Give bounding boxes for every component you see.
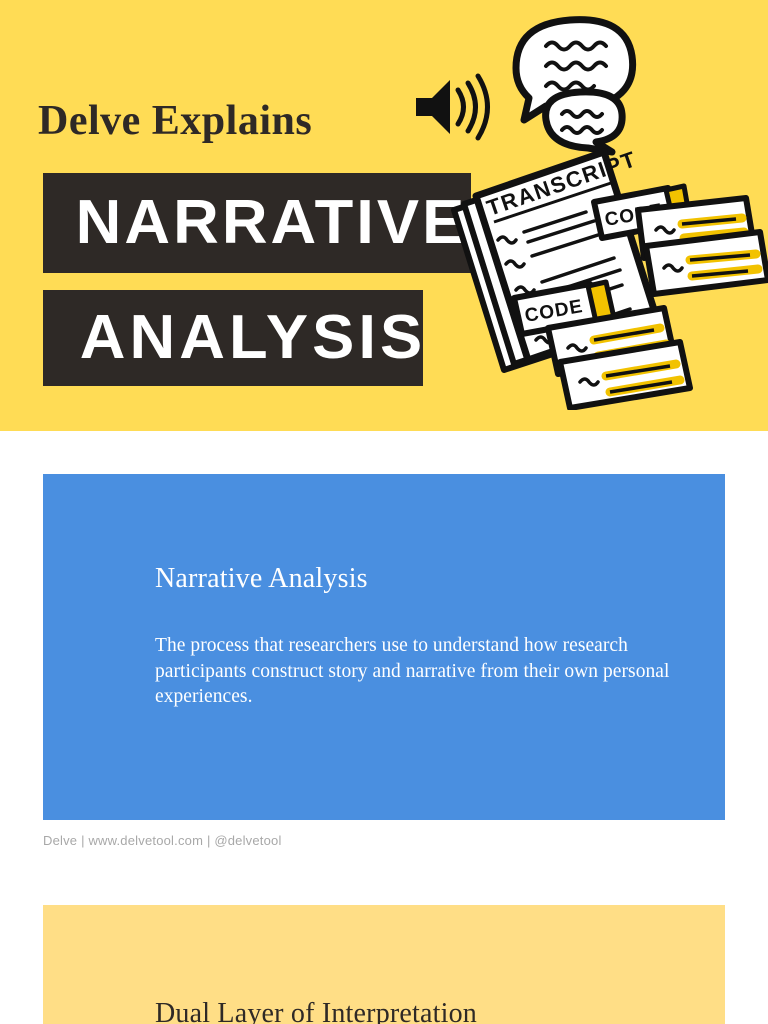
attribution-website[interactable]: www.delvetool.com [88, 833, 203, 848]
poster-page: Delve Explains NARRATIVE ANALYSIS [0, 0, 768, 1024]
attribution-separator-1: | [81, 833, 85, 848]
card-title: Dual Layer of Interpretation [155, 997, 477, 1024]
card-title: Narrative Analysis [155, 562, 368, 596]
hero-eyebrow: Delve Explains [38, 97, 312, 145]
speaker-icon [416, 76, 488, 138]
card-dual-layer-of-interpretation: Dual Layer of Interpretation [43, 905, 725, 1024]
hero-header: Delve Explains NARRATIVE ANALYSIS [0, 0, 768, 431]
card-narrative-analysis: Narrative Analysis The process that rese… [43, 474, 725, 820]
highlighted-strip-2-icon [646, 232, 768, 294]
attribution-line: Delve | www.delvetool.com | @delvetool [43, 832, 282, 850]
speech-bubble-small-icon [546, 92, 623, 152]
hero-title-band-2: ANALYSIS [43, 290, 423, 386]
attribution-handle[interactable]: @delvetool [214, 833, 281, 848]
hero-illustration: TRANSCRIPT [398, 10, 768, 410]
card-body-text: The process that researchers use to unde… [155, 633, 695, 710]
hero-title-line-2: ANALYSIS [43, 307, 426, 369]
attribution-brand: Delve [43, 833, 77, 848]
attribution-separator-2: | [207, 833, 211, 848]
